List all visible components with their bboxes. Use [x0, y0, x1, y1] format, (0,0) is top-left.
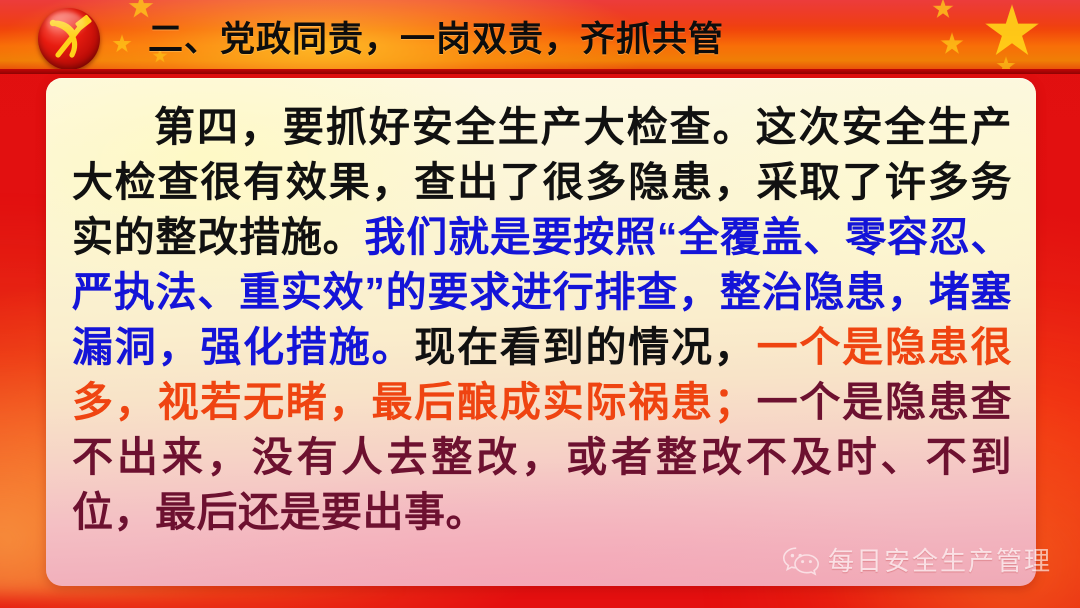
header-band: 二、党政同责，一岗双责，齐抓共管: [0, 0, 1080, 74]
star-icon: [112, 34, 132, 54]
wechat-icon: [782, 545, 818, 575]
slide-root: 二、党政同责，一岗双责，齐抓共管 第四，要抓好安全生产大检查。这次安全生产大检查…: [0, 0, 1080, 608]
watermark: 每日安全生产管理: [782, 541, 1052, 578]
body-text: 第四，要抓好安全生产大检查。这次安全生产大检查很有效果，查出了很多隐患，采取了许…: [46, 78, 1036, 540]
watermark-label: 每日安全生产管理: [828, 541, 1052, 578]
header-underline: [0, 69, 1080, 74]
body-paragraph: 第四，要抓好安全生产大检查。这次安全生产大检查很有效果，查出了很多隐患，采取了许…: [72, 100, 1012, 540]
content-panel: 第四，要抓好安全生产大检查。这次安全生产大检查很有效果，查出了很多隐患，采取了许…: [46, 78, 1036, 586]
page-title: 二、党政同责，一岗双责，齐抓共管: [148, 11, 724, 62]
emblem-gloss: [47, 12, 85, 37]
cpc-party-emblem-icon: [38, 8, 100, 70]
star-icon: [940, 32, 964, 56]
text-segment-black-2: 现在看到的情况，: [414, 324, 756, 370]
